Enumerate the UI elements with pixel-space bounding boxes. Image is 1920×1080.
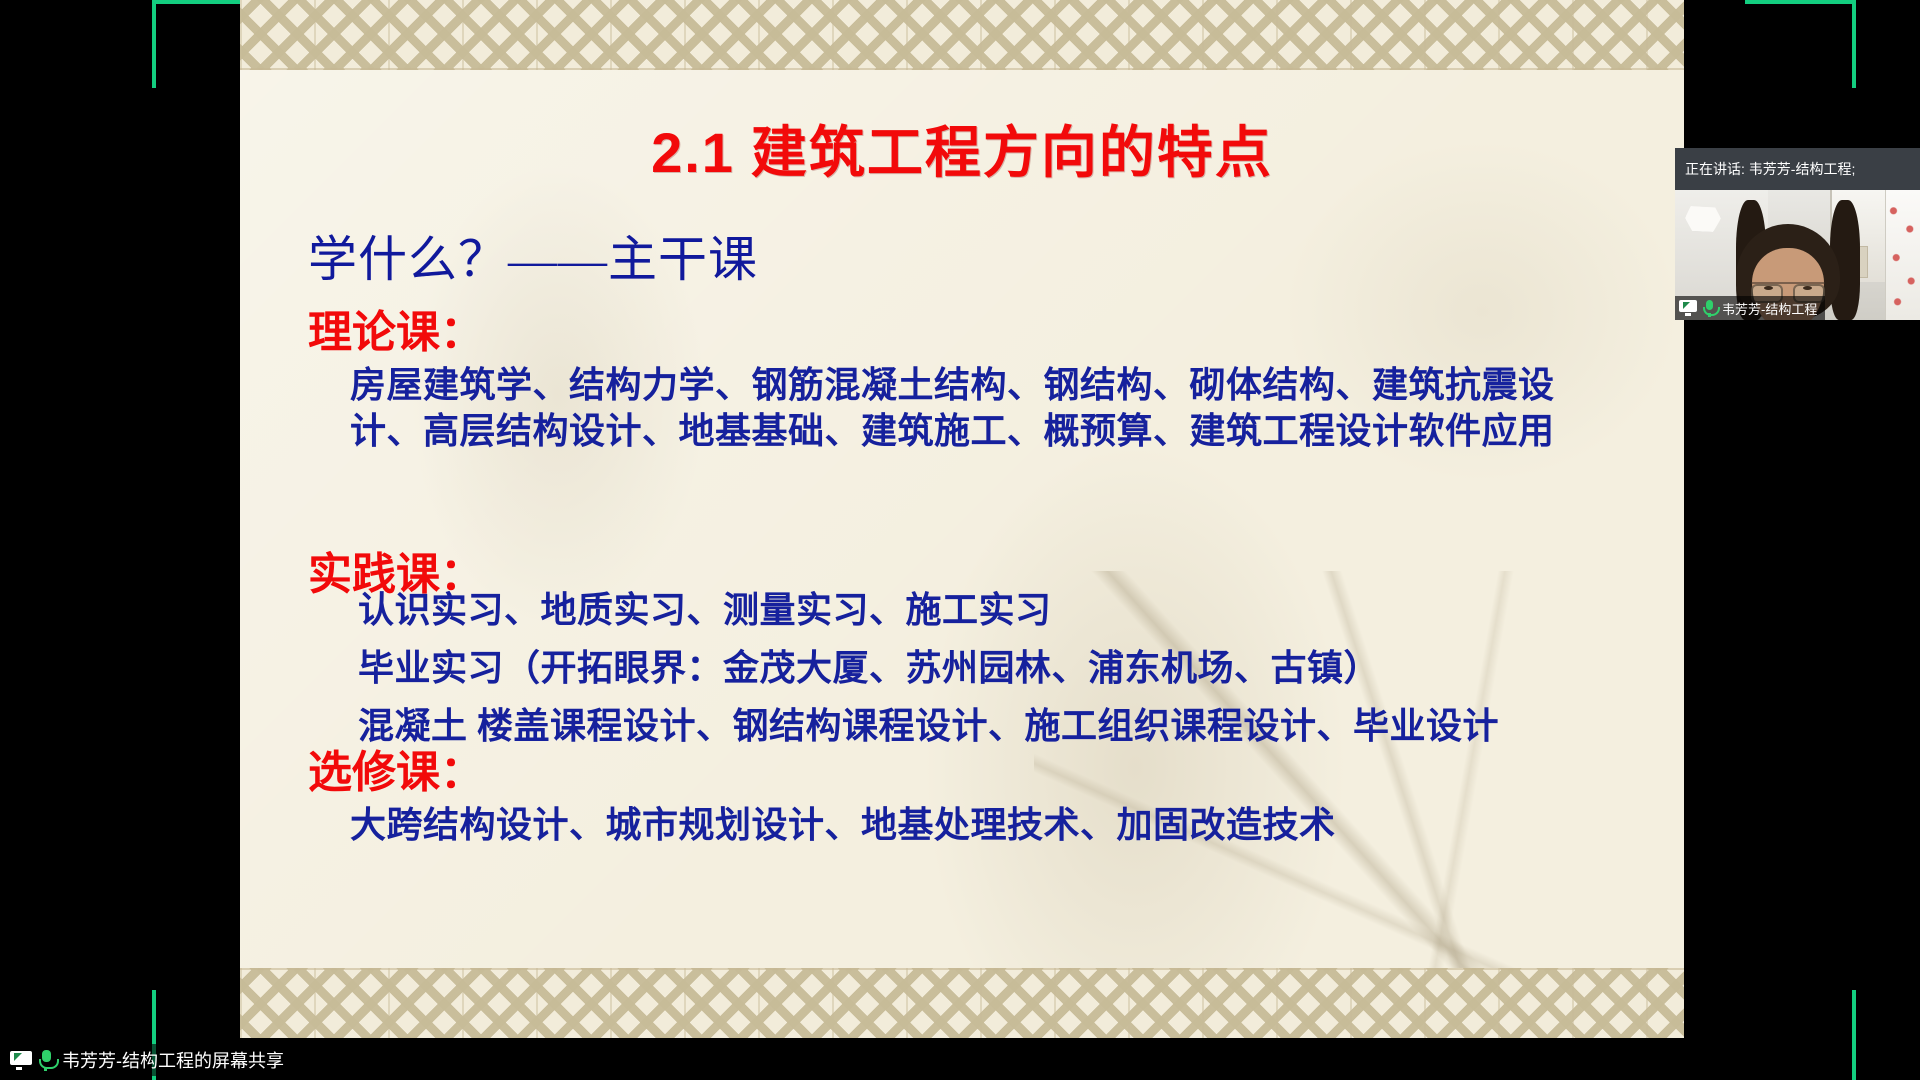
shared-slide: 2.1 建筑工程方向的特点 学什么？——主干课 理论课： 房屋建筑学、结构力学、… (240, 0, 1684, 1038)
participant-video-panel[interactable]: 正在讲话: 韦芳芳-结构工程; (1675, 148, 1920, 320)
section-text-practice-line-3: 混凝土 楼盖课程设计、钢结构课程设计、施工组织课程设计、毕业设计 (358, 704, 1499, 750)
screen-share-icon (10, 1051, 32, 1070)
participant-name-label: 韦芳芳-结构工程 (1722, 299, 1817, 318)
share-frame-corner-bottom-right (1852, 990, 1856, 1080)
screen-share-viewer: 2.1 建筑工程方向的特点 学什么？——主干课 理论课： 房屋建筑学、结构力学、… (0, 0, 1920, 1080)
share-frame-corner-top-right-bar (1745, 0, 1856, 4)
section-text-theory: 房屋建筑学、结构力学、钢筋混凝土结构、钢结构、砌体结构、建筑抗震设计、高层结构设… (350, 363, 1590, 454)
slide-title-text: 建筑工程方向的特点 (751, 123, 1273, 185)
section-text-practice-line-2: 毕业实习（开拓眼界：金茂大厦、苏州园林、浦东机场、古镇） (358, 646, 1380, 692)
screen-share-status-bar: 韦芳芳-结构工程的屏幕共享 (0, 1038, 1920, 1080)
participant-video-tile[interactable]: 韦芳芳-结构工程 (1675, 190, 1920, 320)
participant-name-strip: 韦芳芳-结构工程 (1675, 296, 1825, 320)
active-speaker-label: 正在讲话: 韦芳芳-结构工程; (1675, 148, 1920, 190)
screen-share-icon (1679, 300, 1697, 316)
video-background-curtain (1885, 190, 1920, 320)
microphone-icon (39, 1050, 55, 1071)
video-person-eye-left (1764, 286, 1773, 290)
slide-title: 2.1 建筑工程方向的特点 (240, 108, 1684, 189)
slide-ornament-border-bottom (240, 968, 1684, 1038)
screen-share-status-label: 韦芳芳-结构工程的屏幕共享 (62, 1047, 284, 1073)
share-frame-corner-top-left (152, 0, 156, 88)
microphone-icon (1703, 300, 1716, 317)
section-text-elective-line-1: 大跨结构设计、城市规划设计、地基处理技术、加固改造技术 (350, 803, 1336, 849)
screen-share-status-pill[interactable]: 韦芳芳-结构工程的屏幕共享 (6, 1044, 294, 1076)
slide-ornament-border-top (240, 0, 1684, 70)
slide-subtitle: 学什么？——主干课 (308, 220, 758, 291)
section-text-practice-line-1: 认识实习、地质实习、测量实习、施工实习 (358, 588, 1052, 634)
video-person-eye-right (1803, 286, 1812, 290)
slide-content: 2.1 建筑工程方向的特点 学什么？——主干课 理论课： 房屋建筑学、结构力学、… (240, 68, 1684, 970)
section-heading-theory: 理论课： (308, 296, 484, 360)
slide-title-number: 2.1 (651, 121, 735, 184)
share-frame-corner-top-right (1852, 0, 1856, 88)
section-heading-elective: 选修课： (308, 736, 484, 800)
